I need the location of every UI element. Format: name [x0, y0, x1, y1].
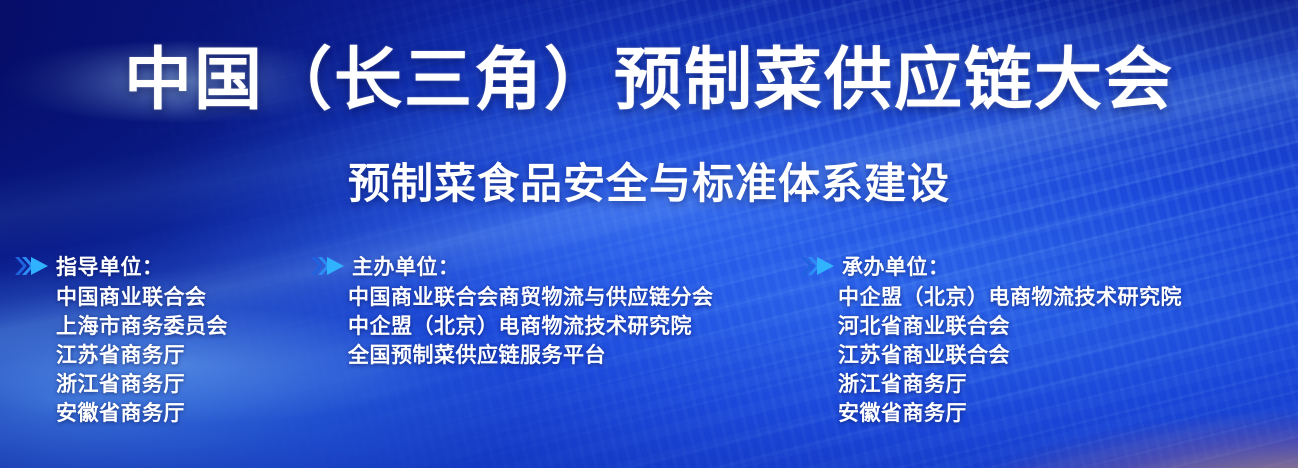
list-item: 上海市商务委员会: [56, 312, 228, 341]
organizer-group-header: 承办单位：: [800, 252, 1182, 280]
organizer-group-label: 指导单位：: [56, 251, 164, 281]
list-item: 浙江省商务厅: [838, 370, 1182, 399]
organizer-group-host: 主办单位： 中国商业联合会商贸物流与供应链分会 中企盟（北京）电商物流技术研究院…: [310, 252, 714, 370]
organizer-columns: 指导单位： 中国商业联合会 上海市商务委员会 江苏省商务厅 浙江省商务厅 安徽省…: [0, 252, 1298, 462]
list-item: 中企盟（北京）电商物流技术研究院: [838, 283, 1182, 312]
list-item: 中企盟（北京）电商物流技术研究院: [348, 312, 714, 341]
organizer-group-guidance: 指导单位： 中国商业联合会 上海市商务委员会 江苏省商务厅 浙江省商务厅 安徽省…: [14, 252, 228, 428]
conference-banner: 中国（长三角）预制菜供应链大会 预制菜食品安全与标准体系建设 指导单位： 中国商…: [0, 0, 1298, 468]
organizer-group-header: 指导单位：: [14, 252, 228, 280]
organizer-list: 中企盟（北京）电商物流技术研究院 河北省商业联合会 江苏省商业联合会 浙江省商务…: [800, 283, 1182, 428]
page-title: 中国（长三角）预制菜供应链大会: [0, 46, 1298, 114]
banner-content: 中国（长三角）预制菜供应链大会 预制菜食品安全与标准体系建设 指导单位： 中国商…: [0, 0, 1298, 468]
double-chevron-right-icon: [14, 255, 50, 277]
list-item: 安徽省商务厅: [838, 399, 1182, 428]
organizer-list: 中国商业联合会 上海市商务委员会 江苏省商务厅 浙江省商务厅 安徽省商务厅: [14, 283, 228, 428]
organizer-group-label: 主办单位：: [352, 251, 460, 281]
list-item: 江苏省商业联合会: [838, 341, 1182, 370]
organizer-group-label: 承办单位：: [842, 251, 950, 281]
organizer-list: 中国商业联合会商贸物流与供应链分会 中企盟（北京）电商物流技术研究院 全国预制菜…: [310, 283, 714, 370]
double-chevron-right-icon: [310, 255, 346, 277]
list-item: 河北省商业联合会: [838, 312, 1182, 341]
list-item: 全国预制菜供应链服务平台: [348, 341, 714, 370]
organizer-group-header: 主办单位：: [310, 252, 714, 280]
list-item: 中国商业联合会: [56, 283, 228, 312]
list-item: 浙江省商务厅: [56, 370, 228, 399]
list-item: 安徽省商务厅: [56, 399, 228, 428]
list-item: 江苏省商务厅: [56, 341, 228, 370]
page-subtitle: 预制菜食品安全与标准体系建设: [0, 163, 1298, 205]
double-chevron-right-icon: [800, 255, 836, 277]
list-item: 中国商业联合会商贸物流与供应链分会: [348, 283, 714, 312]
organizer-group-organizer: 承办单位： 中企盟（北京）电商物流技术研究院 河北省商业联合会 江苏省商业联合会…: [800, 252, 1182, 428]
